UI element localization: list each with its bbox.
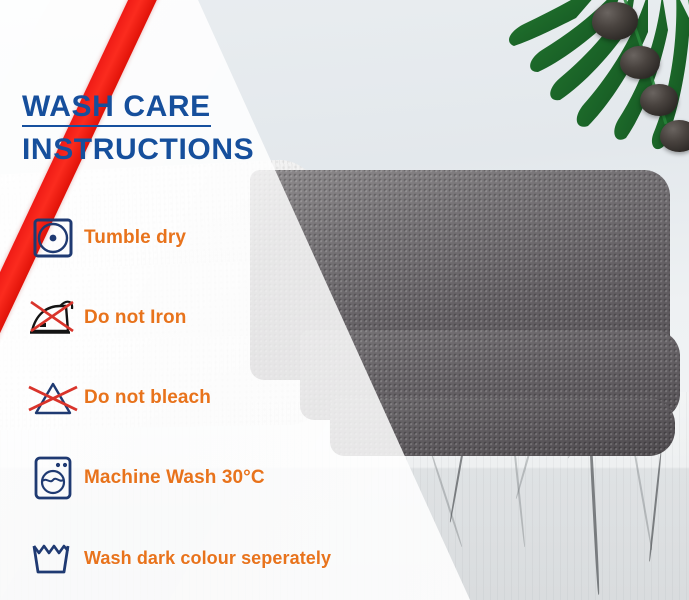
instruction-row-wash-separately: Wash dark colour seperately [22,518,452,598]
instruction-row-machine-wash: Machine Wash 30°C [22,438,452,518]
machine-wash-30-icon [22,449,84,507]
instruction-row-tumble-dry: Tumble dry [22,198,452,278]
tumble-dry-icon [22,209,84,267]
spa-stone-4 [660,120,689,152]
instruction-label-do-not-iron: Do not Iron [84,307,186,329]
do-not-iron-icon [22,289,84,347]
monstera-leaf [498,0,689,164]
instruction-row-do-not-bleach: Do not bleach [22,358,452,438]
page-title: WASH CARE INSTRUCTIONS [22,92,282,165]
spa-stone-1 [592,2,638,40]
wash-separately-icon [22,529,84,587]
instruction-label-machine-wash: Machine Wash 30°C [84,467,265,489]
title-line-1: WASH CARE [22,92,211,127]
instruction-label-tumble-dry: Tumble dry [84,227,186,249]
spa-stone-2 [620,46,660,79]
instruction-row-do-not-iron: Do not Iron [22,278,452,358]
instructions-list: Tumble dry Do not Iron [22,198,452,598]
title-line-2: INSTRUCTIONS [22,135,282,165]
spa-stone-3 [640,84,678,116]
do-not-bleach-icon [22,369,84,427]
instruction-label-do-not-bleach: Do not bleach [84,387,211,409]
instruction-label-wash-separately: Wash dark colour seperately [84,548,331,569]
wash-care-instructions-card: WASH CARE INSTRUCTIONS Tumble dry [0,0,689,600]
